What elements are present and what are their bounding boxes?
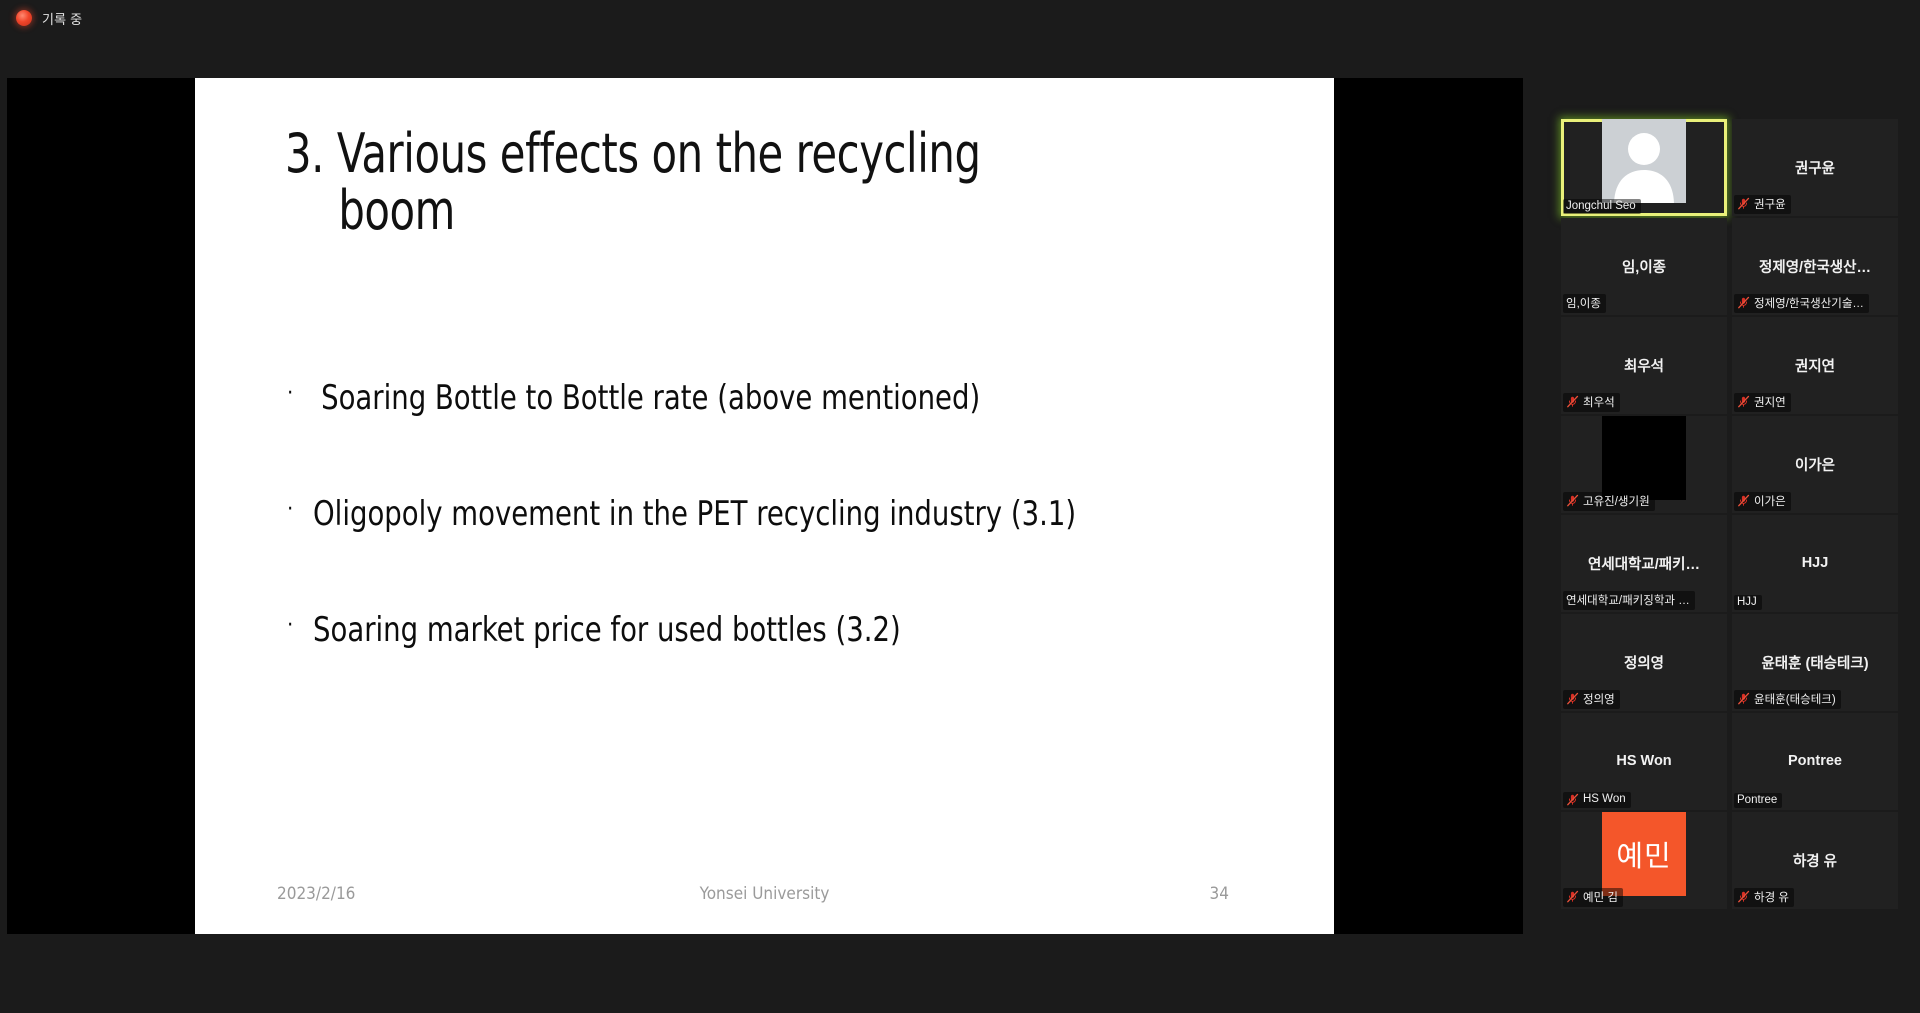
participant-name-chip: 이가은	[1734, 492, 1791, 511]
participant-name-chip: 최우석	[1563, 393, 1620, 412]
participant-tile[interactable]: 정제영/한국생산…정제영/한국생산기술…	[1732, 218, 1898, 315]
participant-row: 임,이종임,이종정제영/한국생산…정제영/한국생산기술…	[1561, 218, 1898, 315]
participant-initials-avatar: 예민	[1602, 812, 1686, 896]
participant-tile[interactable]: 임,이종임,이종	[1561, 218, 1727, 315]
participant-tile[interactable]: 이가은이가은	[1732, 416, 1898, 513]
mic-muted-icon	[1737, 296, 1750, 309]
slide-bullet-text: Soaring Bottle to Bottle rate (above men…	[313, 378, 980, 418]
participant-tile[interactable]: 윤태훈 (태승테크)윤태훈(태승테크)	[1732, 614, 1898, 711]
participant-name-chip: 예민 김	[1563, 888, 1623, 907]
participant-chip-name: 윤태훈(태승테크)	[1754, 691, 1836, 707]
participant-tile[interactable]: 정의영정의영	[1561, 614, 1727, 711]
zoom-meeting-window: 기록 중 3. Various effects on the recycling…	[0, 0, 1920, 1013]
slide-footer: 2023/2/16 Yonsei University 34	[195, 884, 1334, 914]
slide-title-line-1: 3. Various effects on the recycling	[285, 122, 981, 185]
recording-label: 기록 중	[42, 9, 82, 28]
participant-chip-name: 권구윤	[1754, 196, 1786, 212]
participant-chip-name: 하경 유	[1754, 889, 1789, 905]
participant-row: 예민예민 김하경 유하경 유	[1561, 812, 1898, 909]
participant-name-chip: 임,이종	[1563, 294, 1606, 313]
participant-tile[interactable]: PontreePontree	[1732, 713, 1898, 810]
mic-muted-icon	[1566, 793, 1579, 806]
bullet-marker-icon: ·	[287, 610, 313, 642]
slide-title-line-2: boom	[285, 183, 1033, 240]
participant-row: 고유진/생기원이가은이가은	[1561, 416, 1898, 513]
mic-muted-icon	[1737, 692, 1750, 705]
mic-muted-icon	[1737, 197, 1750, 210]
slide-bullet-list: · Soaring Bottle to Bottle rate (above m…	[287, 378, 1297, 726]
slide-bullet-text: Soaring market price for used bottles (3…	[313, 610, 901, 650]
participant-chip-name: 연세대학교/패키징학과 …	[1566, 592, 1690, 608]
participant-row: Jongchul Seo권구윤권구윤	[1561, 119, 1898, 216]
participant-chip-name: 최우석	[1583, 394, 1615, 410]
participant-chip-name: 정의영	[1583, 691, 1615, 707]
slide-bullet-item: · Soaring Bottle to Bottle rate (above m…	[287, 378, 1297, 418]
participant-tile[interactable]: Jongchul Seo	[1561, 119, 1727, 216]
participant-name-chip: 하경 유	[1734, 888, 1794, 907]
participant-name-chip: Pontree	[1734, 793, 1782, 808]
shared-screen-stage[interactable]: 3. Various effects on the recycling boom…	[7, 78, 1523, 934]
participant-filmstrip[interactable]: Jongchul Seo권구윤권구윤임,이종임,이종정제영/한국생산…정제영/한…	[1561, 119, 1898, 889]
participant-tile[interactable]: HS WonHS Won	[1561, 713, 1727, 810]
participant-chip-name: Jongchul Seo	[1566, 200, 1636, 212]
participant-tile[interactable]: HJJHJJ	[1732, 515, 1898, 612]
participant-row: HS WonHS WonPontreePontree	[1561, 713, 1898, 810]
participant-chip-name: 고유진/생기원	[1583, 493, 1650, 509]
participant-tile[interactable]: 권지연권지연	[1732, 317, 1898, 414]
participant-name-chip: 권지연	[1734, 393, 1791, 412]
participant-video-off	[1602, 416, 1686, 500]
participant-tile[interactable]: 예민예민 김	[1561, 812, 1727, 909]
participant-chip-name: 정제영/한국생산기술…	[1754, 295, 1864, 311]
participant-name-chip: 정제영/한국생산기술…	[1734, 294, 1869, 313]
mic-muted-icon	[1737, 395, 1750, 408]
slide-bullet-text: Oligopoly movement in the PET recycling …	[313, 494, 1076, 534]
participant-tile[interactable]: 고유진/생기원	[1561, 416, 1727, 513]
bullet-marker-icon: ·	[287, 378, 313, 410]
participant-name-chip: 고유진/생기원	[1563, 492, 1655, 511]
participant-chip-name: 권지연	[1754, 394, 1786, 410]
slide-page-number: 34	[1210, 884, 1229, 904]
mic-muted-icon	[1566, 890, 1579, 903]
participant-chip-name: HJJ	[1737, 596, 1757, 608]
participant-chip-name: 이가은	[1754, 493, 1786, 509]
participant-avatar	[1602, 119, 1686, 203]
participant-name-chip: Jongchul Seo	[1563, 199, 1641, 214]
participant-name-chip: HJJ	[1734, 595, 1762, 610]
participant-name-chip: 연세대학교/패키징학과 …	[1563, 591, 1695, 610]
mic-muted-icon	[1737, 890, 1750, 903]
record-dot-icon	[16, 10, 32, 26]
participant-name-chip: 윤태훈(태승테크)	[1734, 690, 1841, 709]
participant-name-chip: 정의영	[1563, 690, 1620, 709]
bullet-marker-icon: ·	[287, 494, 313, 526]
participant-row: 정의영정의영윤태훈 (태승테크)윤태훈(태승테크)	[1561, 614, 1898, 711]
participant-tile[interactable]: 하경 유하경 유	[1732, 812, 1898, 909]
recording-status-bar: 기록 중	[0, 0, 1920, 36]
mic-muted-icon	[1566, 494, 1579, 507]
slide-bullet-item: · Oligopoly movement in the PET recyclin…	[287, 494, 1297, 534]
mic-muted-icon	[1566, 395, 1579, 408]
participant-tile[interactable]: 연세대학교/패키…연세대학교/패키징학과 …	[1561, 515, 1727, 612]
slide-title: 3. Various effects on the recycling boom	[285, 126, 1033, 239]
participant-chip-name: 예민 김	[1583, 889, 1618, 905]
participant-row: 최우석최우석권지연권지연	[1561, 317, 1898, 414]
participant-tile[interactable]: 권구윤권구윤	[1732, 119, 1898, 216]
participant-chip-name: Pontree	[1737, 794, 1777, 806]
participant-chip-name: HS Won	[1583, 793, 1626, 805]
participant-row: 연세대학교/패키…연세대학교/패키징학과 …HJJHJJ	[1561, 515, 1898, 612]
presentation-slide: 3. Various effects on the recycling boom…	[195, 78, 1334, 934]
participant-name-chip: HS Won	[1563, 792, 1631, 808]
slide-footer-organization: Yonsei University	[195, 884, 1334, 904]
mic-muted-icon	[1737, 494, 1750, 507]
participant-name-chip: 권구윤	[1734, 195, 1791, 214]
participant-tile[interactable]: 최우석최우석	[1561, 317, 1727, 414]
slide-bullet-item: · Soaring market price for used bottles …	[287, 610, 1297, 650]
mic-muted-icon	[1566, 692, 1579, 705]
participant-chip-name: 임,이종	[1566, 295, 1601, 311]
